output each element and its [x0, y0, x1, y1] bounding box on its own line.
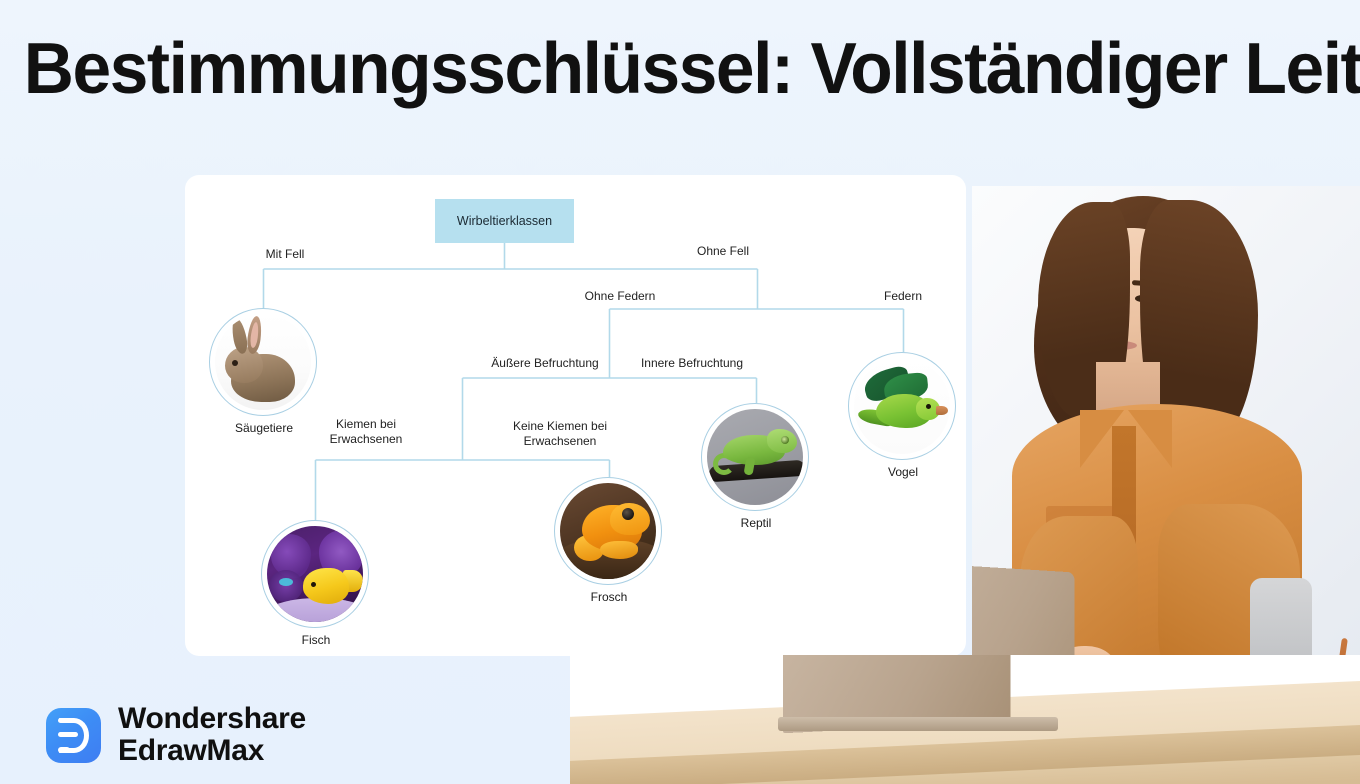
- leaf-node-fisch[interactable]: Fisch: [261, 520, 371, 647]
- edge-label-innere-befruchtung: Innere Befruchtung: [607, 356, 777, 371]
- leaf-label-frosch: Frosch: [554, 590, 664, 604]
- brand-logo[interactable]: Wondershare EdrawMax: [46, 703, 306, 767]
- chameleon-photo: [707, 409, 803, 505]
- leaf-label-saeugetiere: Säugetiere: [209, 421, 319, 435]
- edge-label-keine-kiemen-bei-erwachsenen: Keine Kiemen bei Erwachsenen: [485, 419, 635, 449]
- brand-wordmark: Wondershare EdrawMax: [118, 703, 306, 767]
- leaf-label-reptil: Reptil: [701, 516, 811, 530]
- edge-label-ohne-federn: Ohne Federn: [560, 289, 680, 304]
- leaf-circle-vogel: [848, 352, 956, 460]
- edge-label-kiemen-bei-erwachsenen: Kiemen bei Erwachsenen: [306, 417, 426, 447]
- dichotomous-key-diagram: Wirbeltierklassen Mit Fell Ohne Fell Ohn…: [185, 175, 966, 656]
- brand-line-1: Wondershare: [118, 703, 306, 735]
- leaf-label-vogel: Vogel: [848, 465, 958, 479]
- laptop-base-lower: [778, 717, 1058, 731]
- rabbit-photo: [215, 314, 311, 410]
- edge-label-ohne-fell: Ohne Fell: [668, 244, 778, 259]
- brand-line-2: EdrawMax: [118, 735, 306, 767]
- presenter-photo-lower: [570, 655, 1360, 784]
- node-root[interactable]: Wirbeltierklassen: [435, 199, 574, 243]
- leaf-node-reptil[interactable]: Reptil: [701, 403, 811, 530]
- leaf-label-fisch: Fisch: [261, 633, 371, 647]
- leaf-circle-frosch: [554, 477, 662, 585]
- frog-photo: [560, 483, 656, 579]
- edge-label-aeussere-befruchtung: Äußere Befruchtung: [460, 356, 630, 371]
- leaf-node-frosch[interactable]: Frosch: [554, 477, 664, 604]
- page-title: Bestimmungsschlüssel: Vollständiger Leit…: [24, 22, 1336, 116]
- leaf-circle-reptil: [701, 403, 809, 511]
- leaf-node-saeugetiere[interactable]: Säugetiere: [209, 308, 319, 435]
- leaf-circle-saeugetiere: [209, 308, 317, 416]
- leaf-node-vogel[interactable]: Vogel: [848, 352, 958, 479]
- edge-label-mit-fell: Mit Fell: [230, 247, 340, 262]
- parrot-photo: [854, 358, 950, 454]
- leaf-circle-fisch: [261, 520, 369, 628]
- fish-photo: [267, 526, 363, 622]
- node-root-label: Wirbeltierklassen: [457, 214, 552, 228]
- edge-label-federn: Federn: [848, 289, 958, 304]
- edrawmax-logo-icon: [46, 708, 101, 763]
